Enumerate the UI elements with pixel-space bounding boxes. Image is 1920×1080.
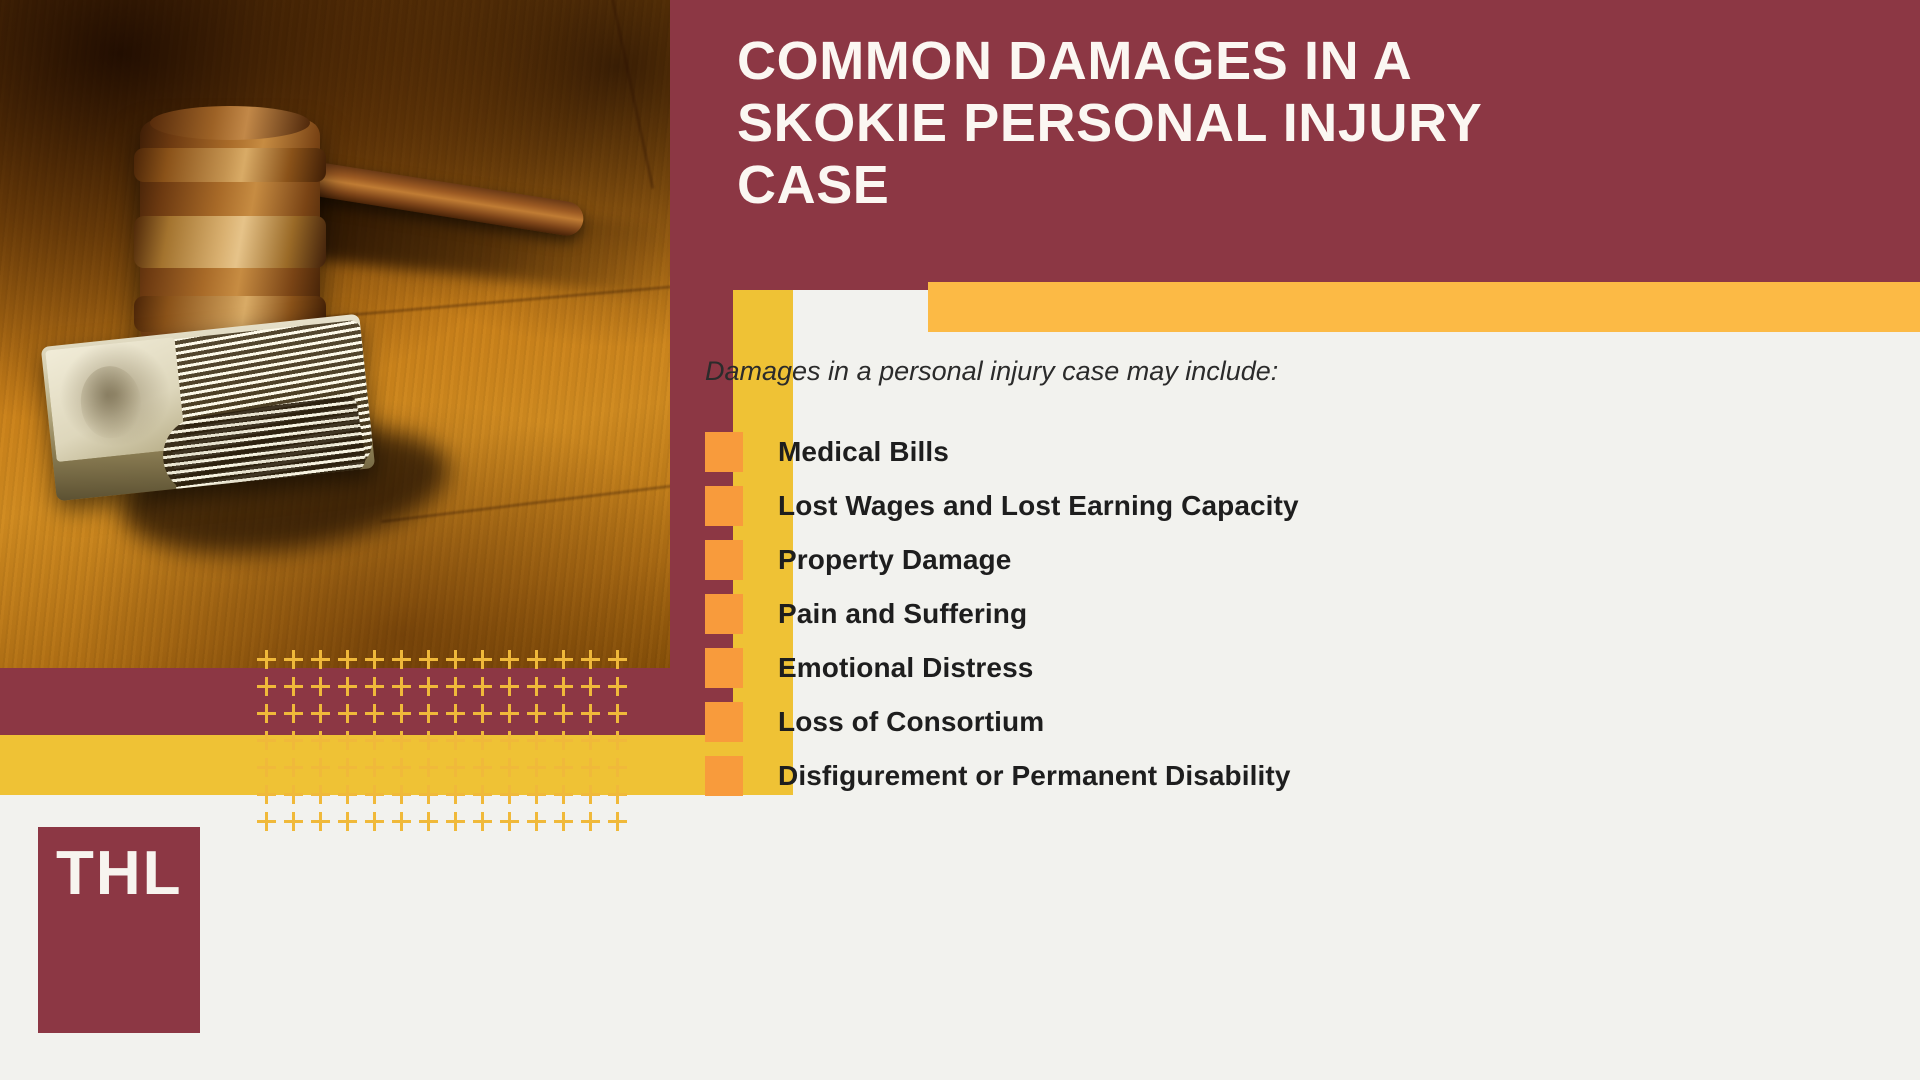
list-item: Disfigurement or Permanent Disability (705, 749, 1865, 803)
plus-mark-icon (581, 812, 600, 831)
list-item: Loss of Consortium (705, 695, 1865, 749)
plus-mark-icon (311, 812, 330, 831)
damages-list: Medical BillsLost Wages and Lost Earning… (705, 425, 1865, 803)
gavel-cap (150, 106, 310, 140)
bullet-square-icon (705, 702, 743, 742)
header-accent-bar (928, 282, 1920, 332)
list-item-label: Lost Wages and Lost Earning Capacity (778, 490, 1299, 522)
plus-mark-icon (473, 812, 492, 831)
list-item-label: Property Damage (778, 544, 1011, 576)
list-item: Medical Bills (705, 425, 1865, 479)
list-item-label: Pain and Suffering (778, 598, 1027, 630)
intro-text: Damages in a personal injury case may in… (705, 356, 1805, 387)
plus-mark-icon (500, 812, 519, 831)
bullet-square-icon (705, 756, 743, 796)
bullet-square-icon (705, 486, 743, 526)
list-item: Lost Wages and Lost Earning Capacity (705, 479, 1865, 533)
list-item-label: Loss of Consortium (778, 706, 1044, 738)
plus-mark-icon (419, 812, 438, 831)
list-item: Pain and Suffering (705, 587, 1865, 641)
plus-mark-icon (365, 812, 384, 831)
plus-mark-icon (392, 812, 411, 831)
bullet-square-icon (705, 540, 743, 580)
gavel-band (134, 216, 326, 268)
plus-mark-icon (608, 812, 627, 831)
plus-mark-icon (554, 812, 573, 831)
gavel-head-icon (140, 120, 320, 345)
plus-mark-icon (284, 812, 303, 831)
gavel-band (134, 148, 326, 182)
list-item-label: Emotional Distress (778, 652, 1033, 684)
list-item: Emotional Distress (705, 641, 1865, 695)
list-item: Property Damage (705, 533, 1865, 587)
plus-mark-icon (446, 812, 465, 831)
plus-mark-icon (338, 812, 357, 831)
bullet-square-icon (705, 594, 743, 634)
bullet-square-icon (705, 432, 743, 472)
list-item-label: Medical Bills (778, 436, 949, 468)
plus-mark-icon (257, 812, 276, 831)
infographic-canvas: COMMON DAMAGES IN A SKOKIE PERSONAL INJU… (0, 0, 1920, 1080)
plus-mark-icon (527, 812, 546, 831)
thl-logo-text: THL (56, 843, 183, 905)
list-item-label: Disfigurement or Permanent Disability (778, 760, 1291, 792)
bullet-square-icon (705, 648, 743, 688)
thl-logo[interactable]: THL (38, 827, 200, 1033)
gavel-money-photo (0, 0, 670, 668)
page-title: COMMON DAMAGES IN A SKOKIE PERSONAL INJU… (737, 30, 1557, 216)
